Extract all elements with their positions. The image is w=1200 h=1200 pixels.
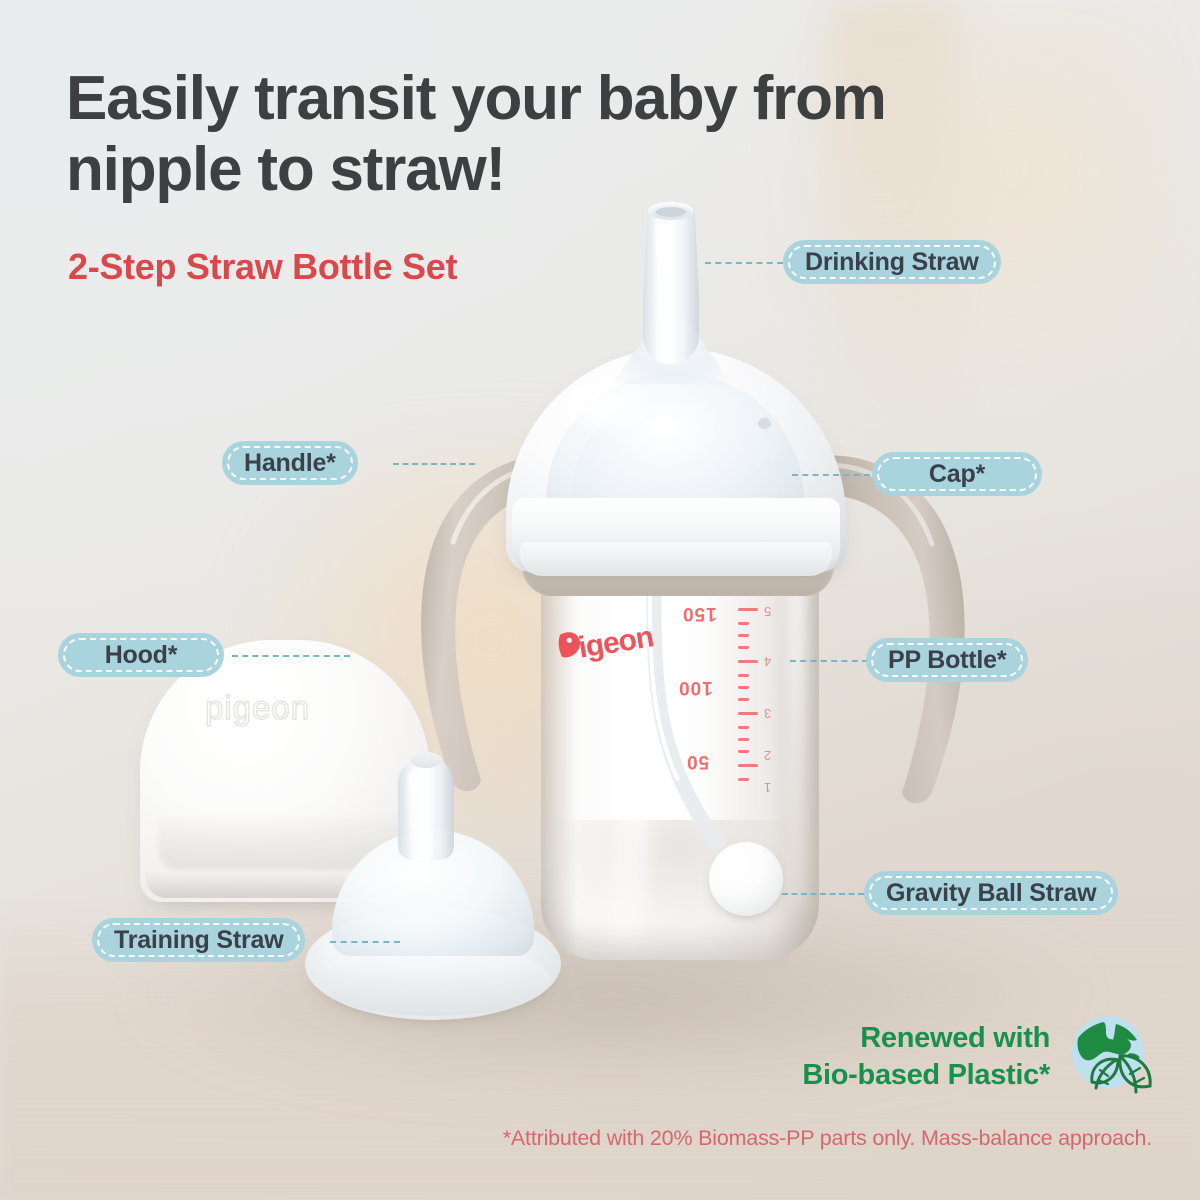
leader-line-handle [393,463,475,465]
footnote-text: *Attributed with 20% Biomass-PP parts on… [0,1126,1152,1151]
callout-label: Cap* [929,460,985,489]
leader-line-hood [232,655,350,657]
hood-brand-text: pigeon [205,689,310,726]
scale-ml-50: 50 [686,750,709,772]
cap-vent-hole [758,418,771,429]
infographic-canvas: Easily transit your baby from nipple to … [0,0,1200,1200]
scale-oz-2: 2 [764,748,771,763]
callout-label: Handle* [244,449,336,478]
callout-label: Gravity Ball Straw [886,879,1096,908]
drinking-straw-spout [643,204,699,364]
callout-label: Hood* [105,641,178,670]
bottle-base-shading [556,925,804,971]
eco-line-2: Bio-based Plastic* [800,1057,1050,1094]
callout-drinking-straw[interactable]: Drinking Straw [783,240,1001,284]
gravity-ball [709,842,783,916]
scale-ml-100: 100 [678,676,713,698]
spout-highlight [656,220,664,332]
svg-text:igeon: igeon [576,620,655,664]
cap-highlight [560,378,652,432]
eco-badge-text: Renewed with Bio-based Plastic* [800,1020,1050,1094]
training-straw-tip [410,752,442,768]
callout-label: Training Straw [114,926,283,955]
callout-hood[interactable]: Hood* [58,633,224,677]
callout-handle[interactable]: Handle* [222,441,358,485]
scale-oz-5: 5 [764,604,771,619]
scale-oz-3: 3 [764,706,771,721]
callout-gravity-ball-straw[interactable]: Gravity Ball Straw [864,871,1118,915]
leader-line-gravity-ball [782,893,864,895]
leader-line-cap [792,474,870,476]
callout-label: Drinking Straw [805,248,979,277]
volume-scale: 150 100 50 5 4 3 2 1 [676,598,786,818]
hood-embossed-logo: pigeon [205,688,365,728]
callout-label: PP Bottle* [888,646,1006,675]
leader-line-drinking-straw [705,262,783,264]
callout-pp-bottle[interactable]: PP Bottle* [866,638,1028,682]
scale-oz-4: 4 [764,654,771,669]
spout-opening [656,207,686,217]
earth-leaf-icon [1058,1008,1162,1112]
callout-cap[interactable]: Cap* [872,452,1042,496]
training-straw-spout [398,756,454,860]
cap-collar-ring-lower [520,542,832,576]
callout-training-straw[interactable]: Training Straw [92,918,305,962]
leader-line-training-straw [330,941,400,943]
scale-ml-150: 150 [682,602,717,624]
gravity-ball-highlight [722,852,748,872]
bottle-highlight-right [788,580,806,910]
scale-oz-1: 1 [764,780,771,795]
leader-line-pp-bottle [790,660,868,662]
eco-line-1: Renewed with [800,1020,1050,1057]
training-straw-highlight [408,772,417,844]
